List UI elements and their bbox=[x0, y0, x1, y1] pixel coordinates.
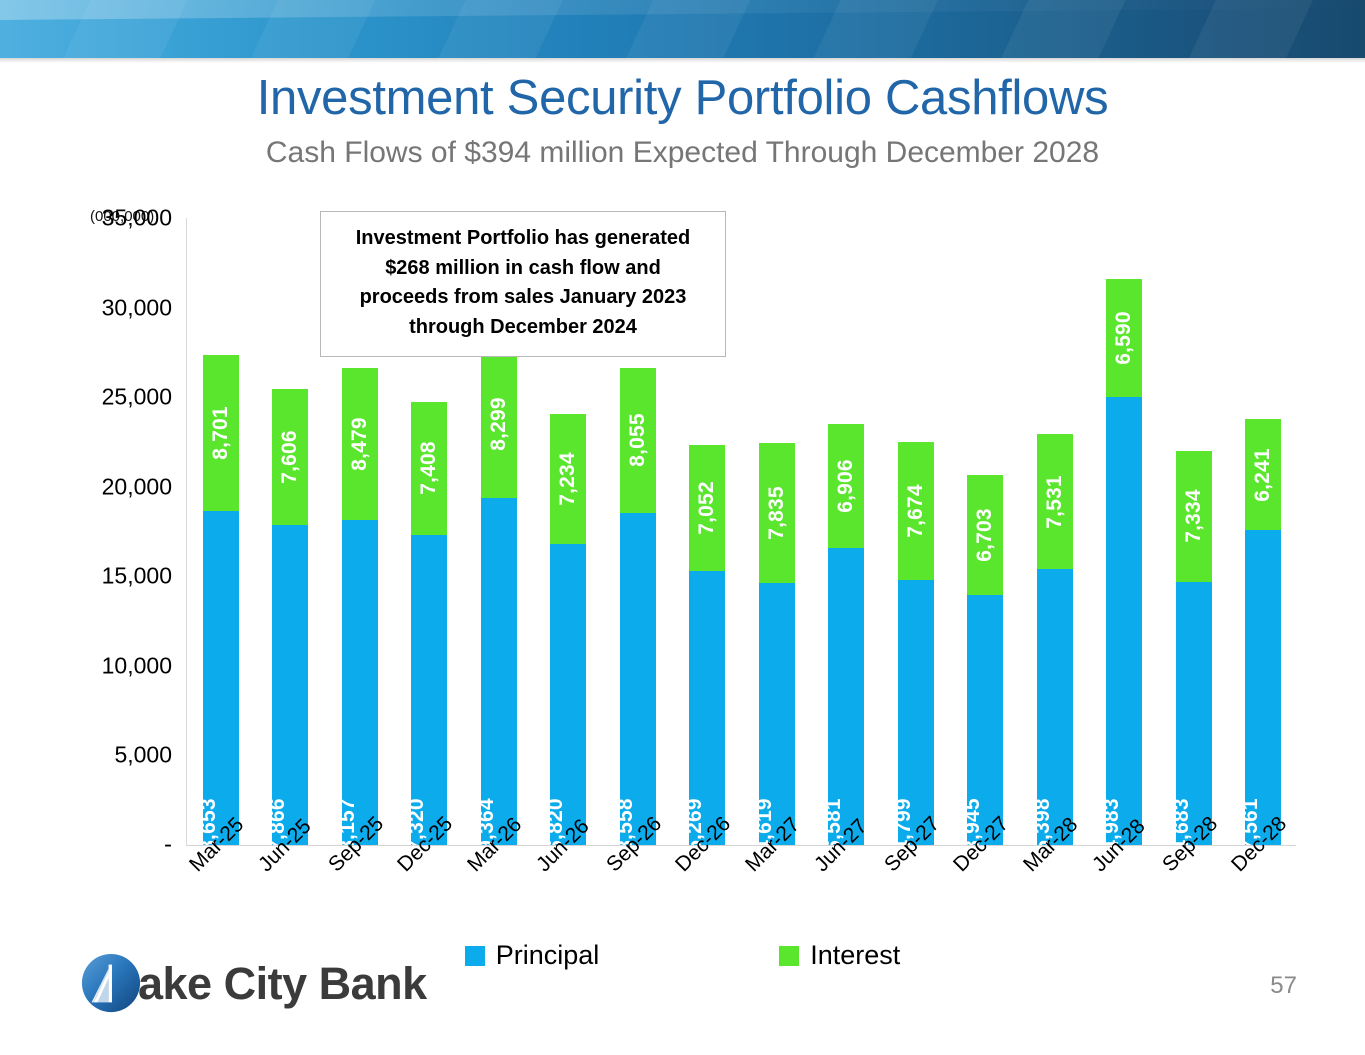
bar-segment-interest[interactable]: 7,234 bbox=[550, 414, 586, 544]
bar-segment-principal[interactable]: 17,561 bbox=[1245, 530, 1281, 845]
bar-value-label-interest: 6,906 bbox=[834, 459, 858, 513]
bar-segment-principal[interactable]: 18,157 bbox=[342, 520, 378, 845]
y-axis-tick: 25,000 bbox=[72, 384, 182, 411]
lake-city-bank-logo-icon bbox=[80, 952, 142, 1014]
bar-segment-principal[interactable]: 17,866 bbox=[272, 525, 308, 845]
bar-segment-principal[interactable]: 24,983 bbox=[1106, 397, 1142, 845]
y-axis-tick: 10,000 bbox=[72, 652, 182, 679]
callout-line-1: Investment Portfolio has generated bbox=[331, 224, 715, 254]
bar-segment-interest[interactable]: 8,299 bbox=[481, 349, 517, 498]
bar-value-label-interest: 8,299 bbox=[487, 397, 511, 451]
bar-group[interactable]: 8,29919,364 bbox=[481, 349, 517, 845]
callout-line-4: through December 2024 bbox=[331, 313, 715, 343]
bar-group[interactable]: 7,05215,269 bbox=[689, 445, 725, 845]
bar-group[interactable]: 6,24117,561 bbox=[1245, 419, 1281, 845]
bar-value-label-interest: 6,241 bbox=[1251, 448, 1275, 502]
y-axis-tick: 20,000 bbox=[72, 473, 182, 500]
bar-segment-interest[interactable]: 7,334 bbox=[1176, 451, 1212, 582]
y-axis-tick: - bbox=[72, 831, 182, 859]
brand-logo: ake City Bank bbox=[80, 952, 427, 1014]
y-axis-tick: 35,000 bbox=[72, 205, 182, 232]
bar-segment-principal[interactable]: 13,945 bbox=[967, 595, 1003, 845]
callout-line-3: proceeds from sales January 2023 bbox=[331, 283, 715, 313]
bar-value-label-interest: 7,408 bbox=[417, 442, 441, 496]
bar-group[interactable]: 7,23416,820 bbox=[550, 414, 586, 845]
bar-segment-principal[interactable]: 16,581 bbox=[828, 548, 864, 845]
bar-value-label-interest: 8,479 bbox=[348, 417, 372, 471]
bar-value-label-interest: 7,334 bbox=[1182, 490, 1206, 544]
bar-value-label-interest: 7,234 bbox=[556, 452, 580, 506]
bar-segment-interest[interactable]: 7,408 bbox=[411, 402, 447, 535]
bar-segment-interest[interactable]: 8,055 bbox=[620, 368, 656, 512]
bar-group[interactable]: 7,83514,619 bbox=[759, 443, 795, 845]
page-title: Investment Security Portfolio Cashflows bbox=[0, 70, 1365, 126]
bar-group[interactable]: 6,90616,581 bbox=[828, 424, 864, 845]
bar-segment-interest[interactable]: 7,674 bbox=[898, 442, 934, 579]
y-axis-tick: 30,000 bbox=[72, 294, 182, 321]
x-axis-labels: Mar-25Jun-25Sep-25Dec-25Mar-26Jun-26Sep-… bbox=[186, 850, 1298, 940]
legend-swatch-interest-icon bbox=[779, 946, 799, 966]
callout-line-2: $268 million in cash flow and bbox=[331, 254, 715, 284]
bar-value-label-interest: 8,701 bbox=[209, 406, 233, 460]
bar-segment-principal[interactable]: 14,683 bbox=[1176, 582, 1212, 845]
bar-segment-interest[interactable]: 7,052 bbox=[689, 445, 725, 571]
bar-group[interactable]: 7,53115,398 bbox=[1037, 434, 1073, 845]
legend-swatch-principal-icon bbox=[465, 946, 485, 966]
legend-item-interest[interactable]: Interest bbox=[779, 940, 900, 971]
bar-segment-principal[interactable]: 17,320 bbox=[411, 535, 447, 845]
bar-value-label-interest: 7,674 bbox=[904, 484, 928, 538]
bar-value-label-interest: 7,052 bbox=[695, 482, 719, 536]
bar-group[interactable]: 8,05518,558 bbox=[620, 368, 656, 845]
bar-segment-principal[interactable]: 16,820 bbox=[550, 544, 586, 845]
banner-shadow bbox=[0, 58, 1365, 63]
bar-segment-interest[interactable]: 6,241 bbox=[1245, 419, 1281, 531]
bar-segment-principal[interactable]: 18,653 bbox=[203, 511, 239, 845]
bar-value-label-interest: 6,590 bbox=[1112, 312, 1136, 366]
page-number: 57 bbox=[1270, 972, 1297, 1000]
bar-group[interactable]: 6,70313,945 bbox=[967, 475, 1003, 845]
bar-segment-principal[interactable]: 15,269 bbox=[689, 571, 725, 845]
bar-segment-interest[interactable]: 7,531 bbox=[1037, 434, 1073, 569]
y-axis-tick: 5,000 bbox=[72, 742, 182, 769]
bar-value-label-interest: 8,055 bbox=[626, 414, 650, 468]
bar-segment-interest[interactable]: 8,701 bbox=[203, 355, 239, 511]
bar-segment-interest[interactable]: 7,606 bbox=[272, 389, 308, 525]
bar-segment-interest[interactable]: 7,835 bbox=[759, 443, 795, 583]
bar-segment-principal[interactable]: 14,799 bbox=[898, 580, 934, 845]
legend-label-interest: Interest bbox=[810, 940, 900, 971]
bar-value-label-interest: 7,531 bbox=[1043, 475, 1067, 529]
legend-item-principal[interactable]: Principal bbox=[465, 940, 600, 971]
bar-segment-interest[interactable]: 8,479 bbox=[342, 368, 378, 520]
bar-group[interactable]: 7,40817,320 bbox=[411, 402, 447, 845]
header-banner bbox=[0, 0, 1365, 58]
bar-group[interactable]: 6,59024,983 bbox=[1106, 279, 1142, 845]
bar-segment-principal[interactable]: 19,364 bbox=[481, 498, 517, 845]
bar-segment-principal[interactable]: 14,619 bbox=[759, 583, 795, 845]
bar-value-label-interest: 7,835 bbox=[765, 486, 789, 540]
brand-logo-text: ake City Bank bbox=[138, 961, 427, 1006]
legend-label-principal: Principal bbox=[496, 940, 600, 971]
bar-segment-interest[interactable]: 6,590 bbox=[1106, 279, 1142, 397]
bar-segment-interest[interactable]: 6,906 bbox=[828, 424, 864, 548]
bar-segment-interest[interactable]: 6,703 bbox=[967, 475, 1003, 595]
y-axis-tick: 15,000 bbox=[72, 563, 182, 590]
callout-textbox: Investment Portfolio has generated $268 … bbox=[320, 211, 726, 357]
bar-group[interactable]: 7,67414,799 bbox=[898, 442, 934, 845]
bar-group[interactable]: 8,47918,157 bbox=[342, 368, 378, 845]
bar-segment-principal[interactable]: 15,398 bbox=[1037, 569, 1073, 845]
slide: Investment Security Portfolio Cashflows … bbox=[0, 0, 1365, 1055]
bar-value-label-interest: 6,703 bbox=[973, 508, 997, 562]
bar-value-label-interest: 7,606 bbox=[278, 430, 302, 484]
bar-group[interactable]: 7,33414,683 bbox=[1176, 451, 1212, 845]
y-axis: 35,00030,00025,00020,00015,00010,0005,00… bbox=[72, 190, 182, 890]
bar-segment-principal[interactable]: 18,558 bbox=[620, 513, 656, 845]
bar-group[interactable]: 8,70118,653 bbox=[203, 355, 239, 845]
page-subtitle: Cash Flows of $394 million Expected Thro… bbox=[0, 136, 1365, 170]
bar-group[interactable]: 7,60617,866 bbox=[272, 389, 308, 845]
